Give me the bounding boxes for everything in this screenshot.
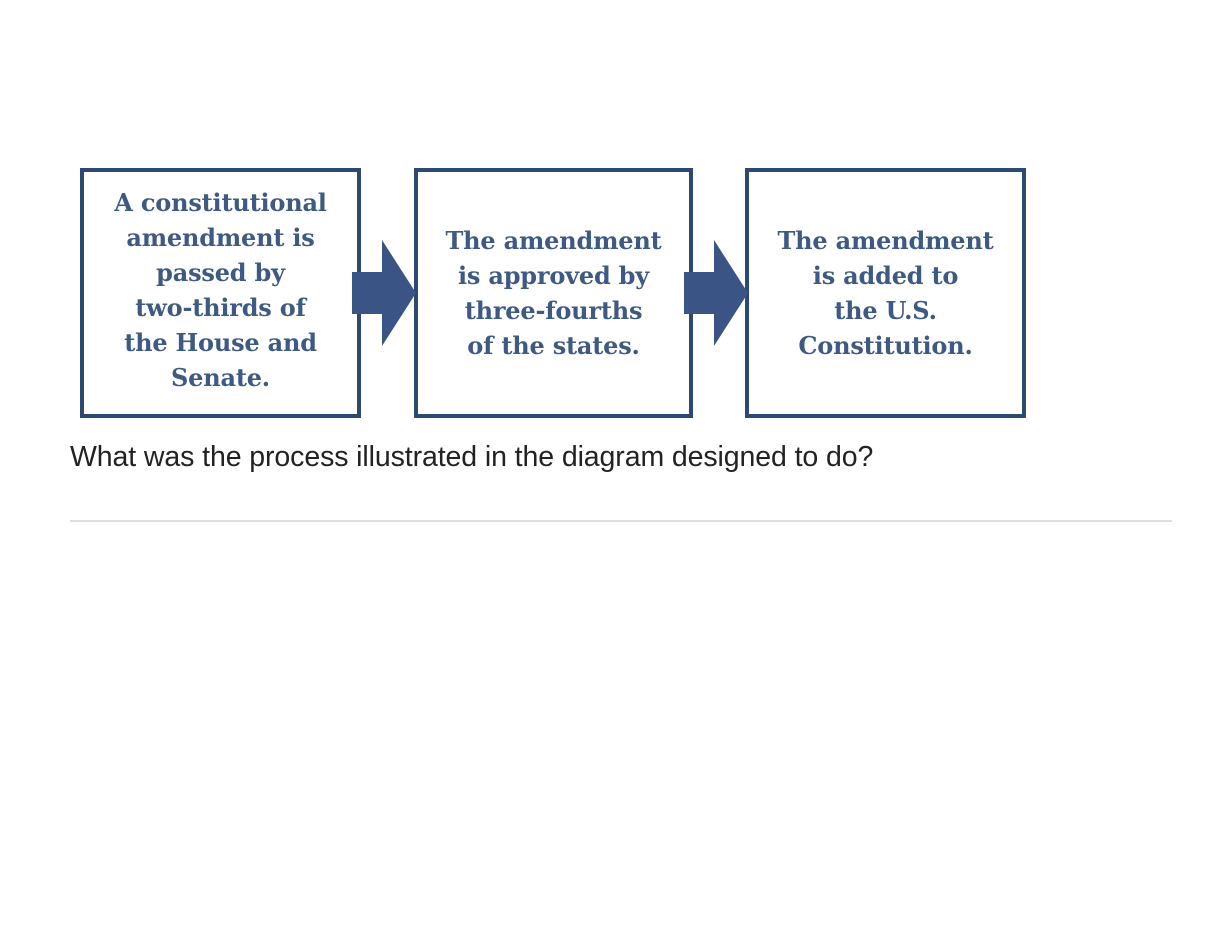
arrow-right-icon-2 — [684, 232, 748, 354]
horizontal-divider — [70, 520, 1172, 522]
question-text: What was the process illustrated in the … — [70, 437, 1130, 477]
flow-step-box-2: The amendment is approved by three-fourt… — [414, 168, 693, 418]
page-root: A constitutional amendment is passed by … — [0, 0, 1216, 942]
flow-step-label-2: The amendment is approved by three-fourt… — [418, 223, 689, 363]
flow-step-box-3: The amendment is added to the U.S. Const… — [745, 168, 1026, 418]
flow-step-label-3: The amendment is added to the U.S. Const… — [749, 223, 1022, 363]
flow-step-box-1: A constitutional amendment is passed by … — [80, 168, 361, 418]
flowchart-diagram: A constitutional amendment is passed by … — [0, 0, 1216, 430]
arrow-right-icon-1 — [352, 232, 416, 354]
flow-step-label-1: A constitutional amendment is passed by … — [84, 185, 357, 395]
